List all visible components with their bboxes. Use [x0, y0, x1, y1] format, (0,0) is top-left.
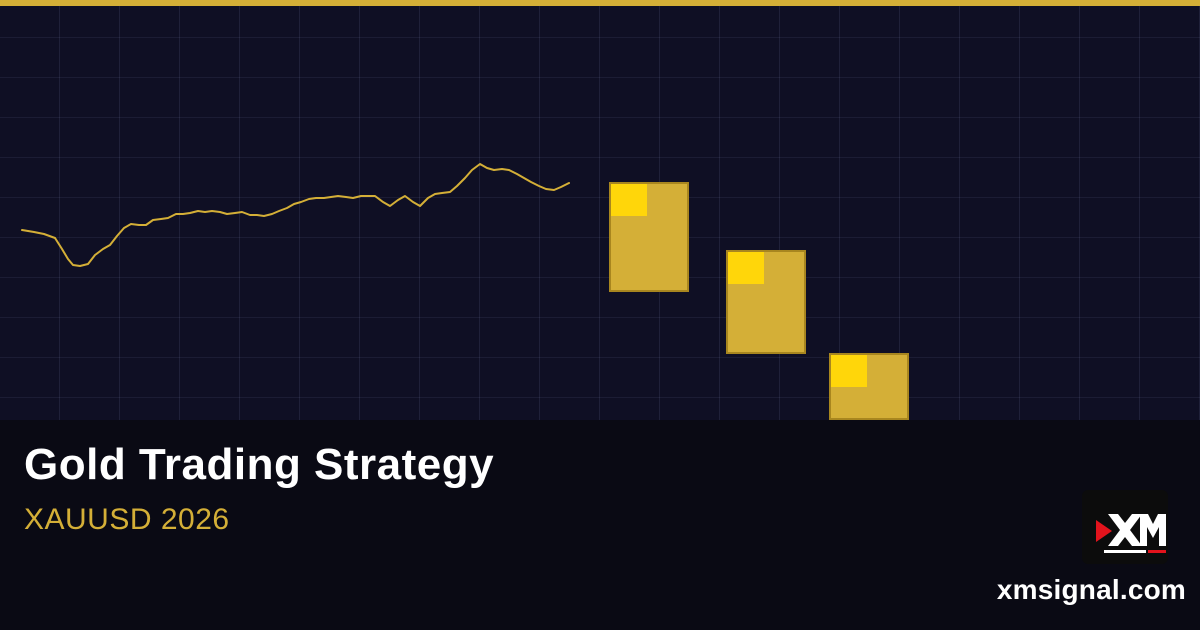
price-line-chart	[0, 6, 1200, 420]
candlestick-box	[609, 182, 689, 292]
candlestick-box	[726, 250, 806, 354]
brand-domain-text: xmsignal.com	[997, 574, 1186, 606]
chart-panel	[0, 6, 1200, 420]
candlestick-highlight	[728, 252, 764, 284]
candlestick-highlight	[831, 355, 867, 387]
social-card-canvas: Gold Trading Strategy XAUUSD 2026 xmsign…	[0, 0, 1200, 630]
logo-letter-m	[1140, 514, 1166, 546]
candlestick-highlight	[611, 184, 647, 216]
footer-bar: Gold Trading Strategy XAUUSD 2026 xmsign…	[0, 420, 1200, 630]
xm-logo-mark	[1082, 490, 1168, 564]
logo-underline-red	[1148, 550, 1166, 553]
page-subtitle: XAUUSD 2026	[24, 503, 230, 537]
xm-logo	[1082, 490, 1168, 564]
candlestick-box	[829, 353, 909, 420]
logo-underline-white	[1104, 550, 1146, 553]
logo-arrow-icon	[1096, 520, 1112, 542]
logo-letter-x	[1108, 514, 1142, 546]
page-title: Gold Trading Strategy	[24, 440, 494, 490]
price-line-path	[22, 164, 569, 266]
